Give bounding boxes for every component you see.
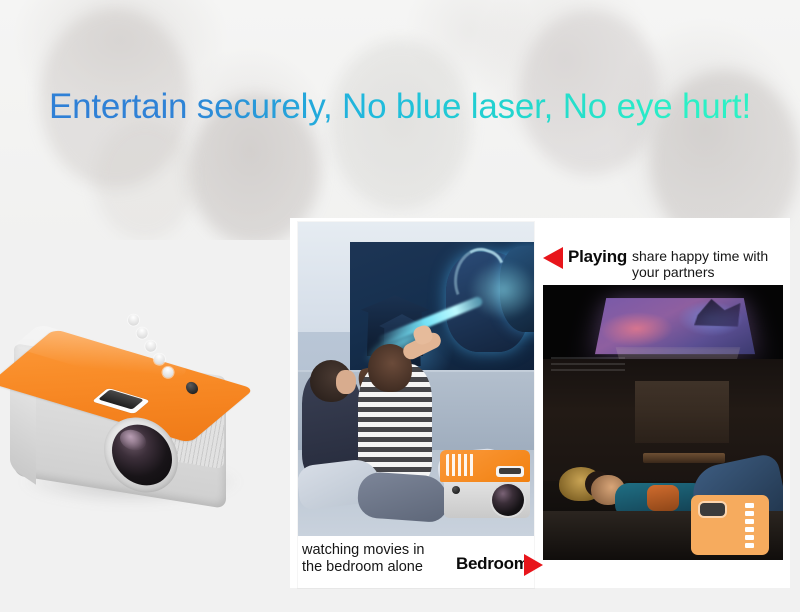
scene-photo-living-room	[298, 222, 534, 536]
projector-button-5	[161, 365, 176, 380]
inset-bedroom-button-1	[745, 503, 754, 508]
scene-tag-bedroom: Bedroom	[456, 554, 529, 574]
scene-caption-line-2: the bedroom alone	[302, 559, 462, 576]
scene-caption-line-1: watching movies in	[302, 542, 462, 559]
inset-projector-buttons	[446, 454, 474, 476]
inset-projector-sensor	[452, 486, 460, 494]
inset-projector-bedroom-window	[700, 503, 725, 516]
scene-subtitle-line-1: share happy time with	[632, 248, 792, 264]
inset-projector-lens	[492, 484, 524, 516]
background-person-6	[95, 120, 195, 240]
projector-button-2	[135, 326, 150, 341]
scene-card-bedroom	[543, 285, 783, 560]
bedroom-shelf	[643, 453, 725, 463]
viewer-person-1-face	[336, 370, 356, 394]
inset-projector-bedroom-buttons	[745, 503, 754, 549]
product-projector-main	[8, 330, 258, 520]
scene-caption-living-room: watching movies in the bedroom alone	[302, 542, 462, 576]
inset-bedroom-button-4	[745, 527, 754, 532]
inset-projector-bedroom	[691, 495, 769, 555]
page-headline: Entertain securely, No blue laser, No ey…	[0, 88, 800, 127]
projector-button-3	[143, 339, 158, 354]
scene-subtitle-line-2: your partners	[632, 264, 792, 280]
scene-card-living-room: watching movies in the bedroom alone Bed…	[298, 222, 534, 588]
inset-projector-ir-glass	[499, 468, 521, 474]
inset-bedroom-button-5	[745, 535, 754, 540]
triangle-right-icon	[524, 554, 543, 576]
scene-subtitle-playing: share happy time with your partners	[632, 248, 792, 280]
sleeper-shirt-accent	[647, 485, 679, 511]
inset-bedroom-button-3	[745, 519, 754, 524]
inset-bedroom-button-6	[745, 543, 754, 548]
inset-bedroom-button-2	[745, 511, 754, 516]
bedroom-wall-text	[551, 357, 625, 371]
projector-button-4	[152, 352, 167, 367]
inset-projector-living-room	[440, 450, 532, 520]
triangle-left-icon	[543, 247, 563, 269]
bedroom-wall-panel	[635, 381, 729, 443]
banner-page: Entertain securely, No blue laser, No ey…	[0, 0, 800, 612]
scene-tag-playing: Playing	[568, 247, 627, 267]
projector-button-1	[126, 313, 141, 328]
pillow-2	[357, 471, 450, 523]
